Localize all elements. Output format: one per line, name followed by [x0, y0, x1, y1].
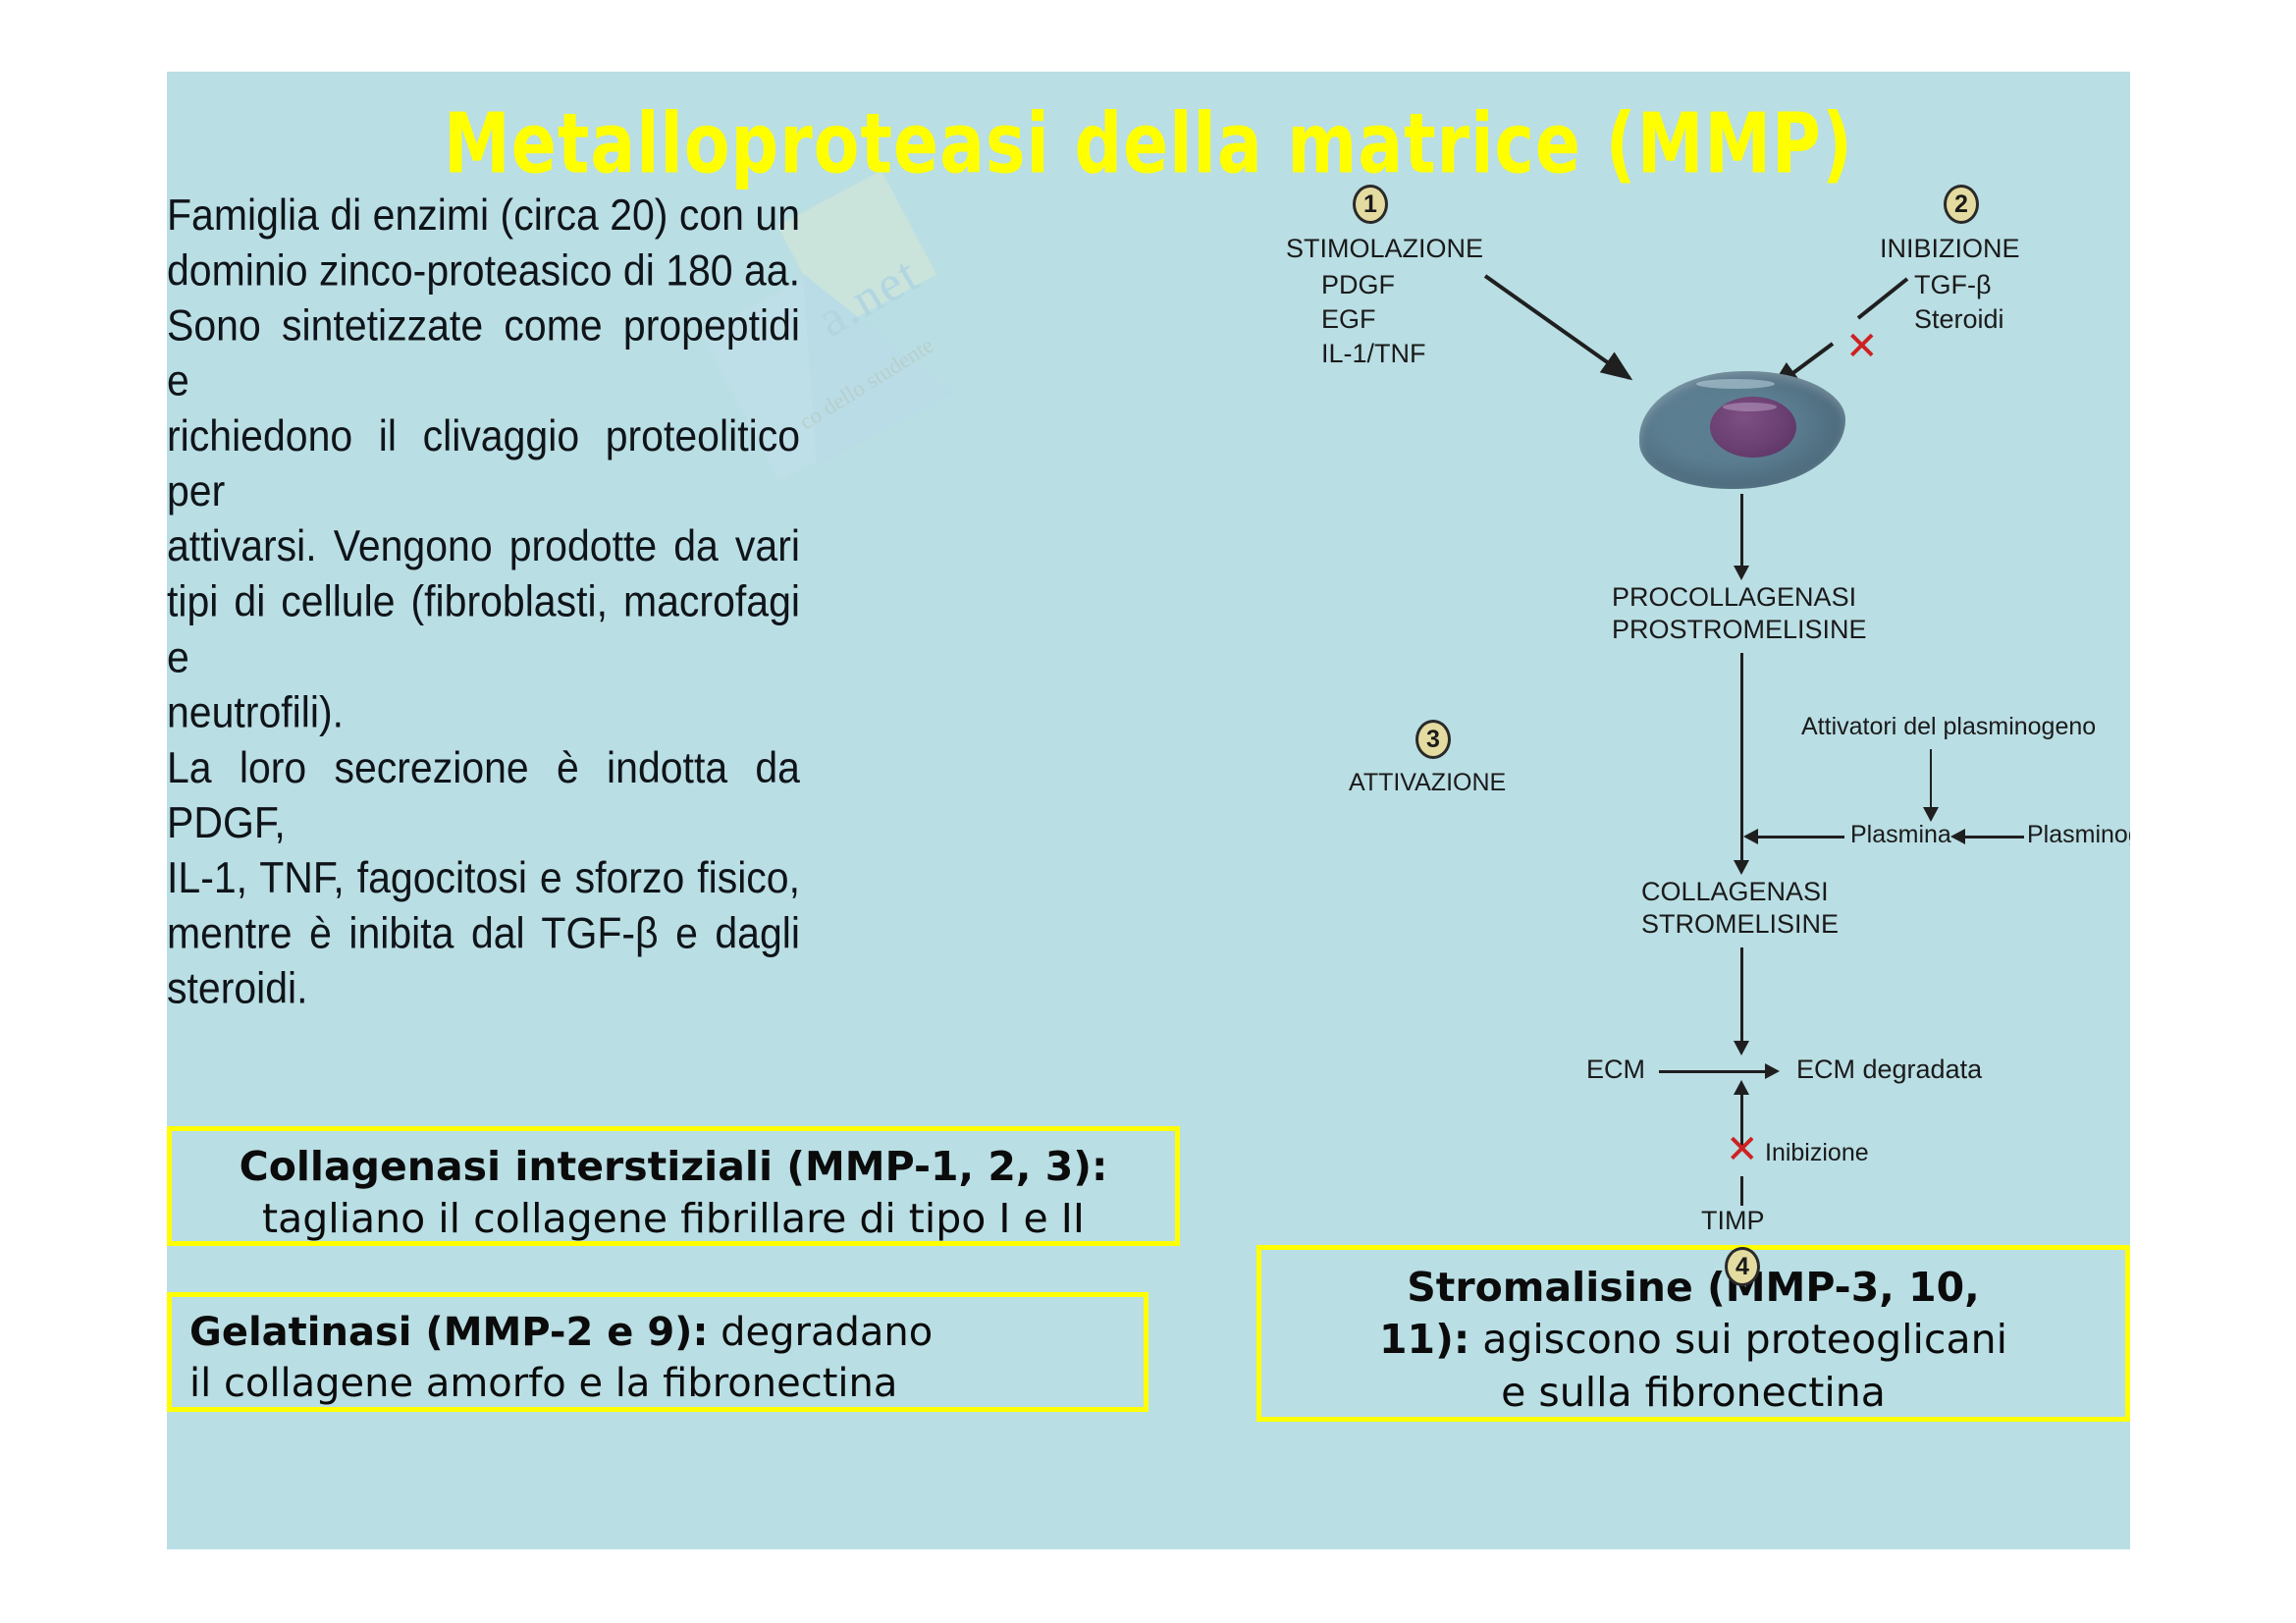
step-number-3: 3 [1415, 720, 1451, 759]
callout-line-mixed: 11): agiscono sui proteoglicani [1261, 1314, 2125, 1366]
callout-line-bold: Stromalisine (MMP-3, 10, [1261, 1262, 2125, 1314]
arrowhead-to-ecm [1734, 1041, 1749, 1055]
body-line: dominio zinco-proteasico di 180 aa. [167, 243, 800, 298]
mmp-pathway-diagram: 1 STIMOLAZIONE PDGF EGF IL-1/TNF 2 INIBI… [1266, 185, 2130, 1117]
slide-canvas: a.net co dello studente Metalloproteasi … [167, 72, 2130, 1549]
watermark-yellow-block [777, 171, 936, 330]
body-text-block: Famiglia di enzimi (circa 20) con un dom… [167, 188, 800, 1015]
callout-box-stromalisine: Stromalisine (MMP-3, 10, 11): agiscono s… [1256, 1245, 2130, 1422]
body-line: tipi di cellule (fibroblasti, macrofagi … [167, 574, 800, 684]
step-number-2: 2 [1944, 185, 1979, 224]
arrow-stimolazione [1477, 268, 1654, 396]
callout-line: tagliano il collagene fibrillare di tipo… [172, 1193, 1175, 1245]
callout-line: il collagene amorfo e la fibronectina [189, 1358, 1144, 1409]
body-line: La loro secrezione è indotta da PDGF, [167, 739, 800, 849]
callout-bold-fragment: 11): [1379, 1316, 1469, 1363]
body-line: Famiglia di enzimi (circa 20) con un [167, 188, 800, 243]
arrowhead-to-procollagenasi [1734, 566, 1749, 580]
label-ecm: ECM [1586, 1055, 1645, 1085]
body-line: Sono sintetizzate come propeptidi e [167, 298, 800, 407]
body-line: mentre è inibita dal TGF-β e dagli [167, 905, 800, 960]
callout-rest-fragment: degradano [708, 1310, 933, 1355]
callout-bold-fragment: Gelatinasi (MMP-2 e 9): [189, 1310, 708, 1355]
body-line: attivarsi. Vengono prodotte da vari [167, 518, 800, 573]
label-stimolazione: STIMOLAZIONE [1286, 234, 1483, 264]
label-plasmina: Plasmina [1850, 821, 1951, 849]
callout-line: e sulla fibronectina [1261, 1367, 2125, 1419]
arrowhead-ecm-degradata [1765, 1063, 1780, 1079]
label-timp: TIMP [1701, 1206, 1765, 1236]
label-prostromelisine: PROSTROMELISINE [1612, 615, 1867, 645]
cell-highlight [1696, 379, 1775, 389]
callout-line-bold: Collagenasi interstiziali (MMP-1, 2, 3): [172, 1141, 1175, 1193]
step-number-4: 4 [1725, 1247, 1760, 1286]
label-stromelisine: STROMELISINE [1641, 909, 1839, 940]
body-line: steroidi. [167, 960, 800, 1015]
callout-box-gelatinasi: Gelatinasi (MMP-2 e 9): degradano il col… [167, 1292, 1148, 1412]
label-pdgf: PDGF [1321, 270, 1395, 300]
label-plasminogeno: Plasminogeno [2027, 821, 2130, 849]
arrowhead-plasmina-in [1950, 829, 1965, 844]
callout-box-collagenasi: Collagenasi interstiziali (MMP-1, 2, 3):… [167, 1126, 1180, 1246]
arrowhead-axis-in [1743, 829, 1758, 844]
arrowhead-attivatori [1923, 807, 1939, 822]
label-attivazione: ATTIVAZIONE [1349, 769, 1506, 797]
callout-line-mixed: Gelatinasi (MMP-2 e 9): degradano [189, 1307, 1144, 1358]
arrowhead-to-collagenasi [1734, 860, 1749, 875]
label-collagenasi: COLLAGENASI [1641, 877, 1829, 907]
label-inibizione: INIBIZIONE [1880, 234, 2020, 264]
label-tgf-beta: TGF-β [1914, 270, 1992, 300]
connector-plasminogeno-to-plasmina [1959, 836, 2024, 839]
watermark-text-primary: a.net [808, 245, 930, 350]
watermark-text-secondary: co dello studente [795, 333, 938, 436]
step-number-1: 1 [1353, 185, 1388, 224]
cell-illustration [1639, 371, 1845, 489]
connector-cell-to-procollagenasi [1740, 494, 1743, 570]
label-il1-tnf: IL-1/TNF [1321, 339, 1426, 369]
connector-plasmina-to-axis [1752, 836, 1844, 839]
arrowhead-timp-up [1734, 1080, 1749, 1095]
label-ecm-degradata: ECM degradata [1796, 1055, 1982, 1085]
connector-attivatori-down [1930, 749, 1932, 813]
page-title: Metalloproteasi della matrice (MMP) [167, 96, 2130, 193]
label-egf: EGF [1321, 304, 1376, 335]
connector-timp-stem [1740, 1176, 1743, 1206]
body-line: neutrofili). [167, 684, 800, 739]
label-attivatori-plasminogeno: Attivatori del plasminogeno [1801, 713, 2096, 741]
connector-ecm-to-degradata [1659, 1070, 1769, 1073]
red-x-icon-timp: ✕ [1726, 1135, 1759, 1168]
body-line: IL-1, TNF, fagocitosi e sforzo fisico, [167, 850, 800, 905]
nucleus-highlight [1723, 403, 1777, 411]
label-procollagenasi: PROCOLLAGENASI [1612, 582, 1856, 613]
body-line: richiedono il clivaggio proteolitico per [167, 408, 800, 518]
red-x-icon-inibizione: ✕ [1845, 332, 1879, 365]
callout-rest-fragment: agiscono sui proteoglicani [1469, 1316, 2007, 1363]
label-inibizione-small: Inibizione [1765, 1139, 1869, 1167]
label-steroidi: Steroidi [1914, 304, 2004, 335]
connector-collagenasi-to-ecm [1740, 947, 1743, 1046]
